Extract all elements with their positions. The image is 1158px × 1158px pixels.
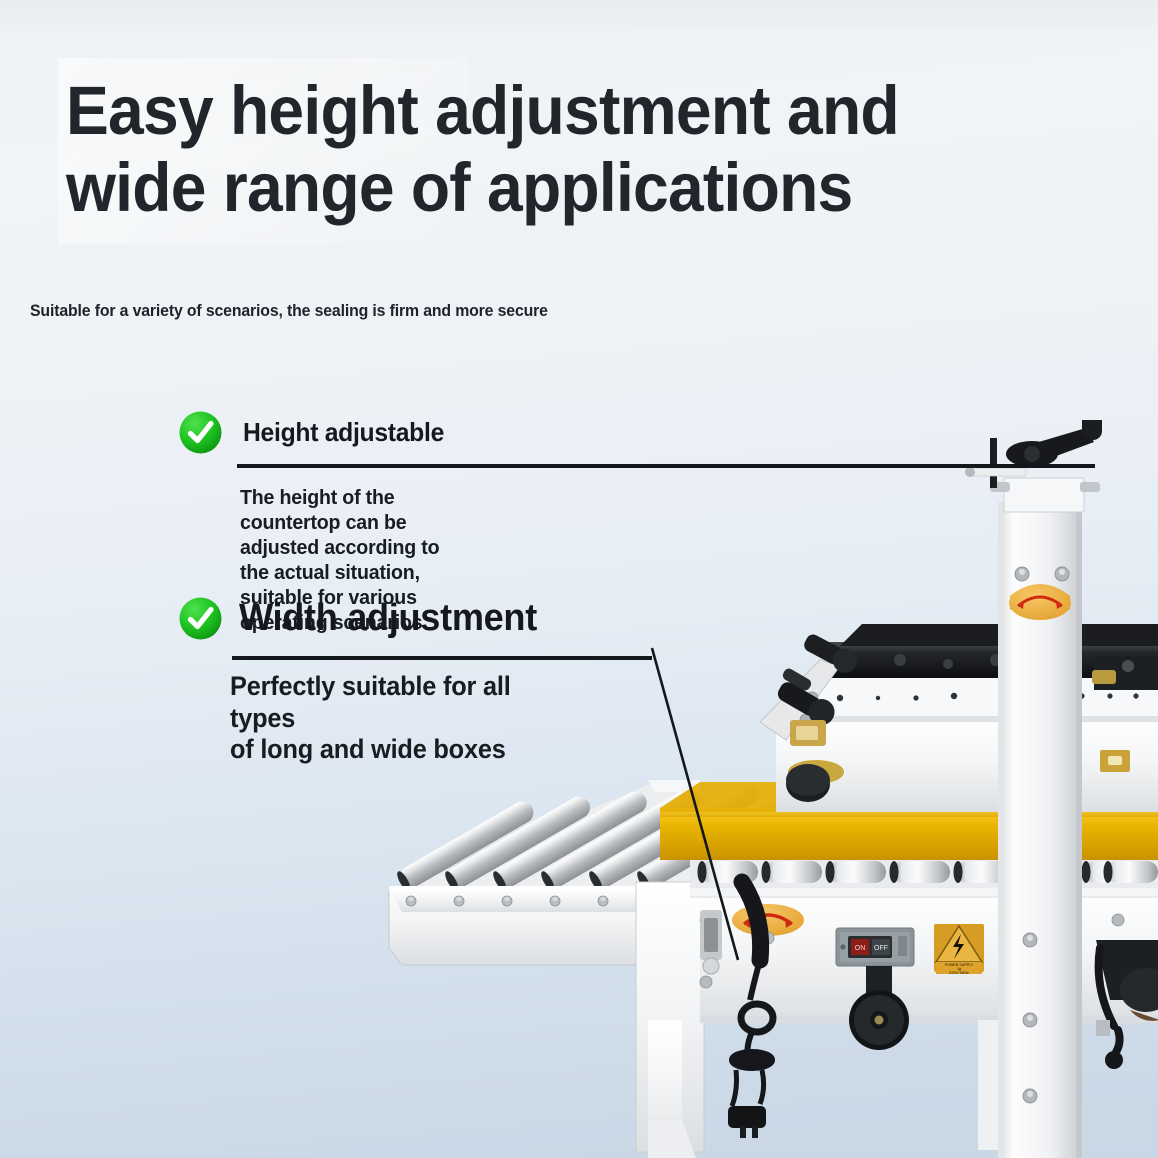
rear-rollers-right (1104, 861, 1158, 883)
hand-crank (1006, 420, 1102, 467)
feature-title: Height adjustable (243, 417, 444, 448)
control-panel: ON OFF (836, 928, 914, 966)
top-light-band (0, 0, 1158, 30)
green-check-icon (178, 410, 223, 455)
banner-stage: ON OFF POWER SUPPLY 1ϕ 220V 50Hz (0, 0, 1158, 1158)
feature-divider (237, 464, 1095, 468)
power-warning-label: POWER SUPPLY 1ϕ 220V 50Hz (934, 924, 984, 975)
switch-off-label: OFF (874, 945, 888, 952)
feature-width-adjustment: Width adjustment Perfectly suitable for … (178, 596, 553, 641)
right-motor-assembly (1096, 940, 1158, 1069)
carton-sealing-machine: ON OFF POWER SUPPLY 1ϕ 220V 50Hz (0, 420, 1158, 1158)
feature-description: Perfectly suitable for all types of long… (230, 671, 538, 766)
feature-height-adjustable: Height adjustable The height of the coun… (178, 410, 455, 455)
green-check-icon (178, 596, 223, 641)
feature-header: Height adjustable (178, 410, 455, 455)
page-title: Easy height adjustment and wide range of… (66, 72, 1033, 226)
feature-title: Width adjustment (239, 597, 537, 640)
rear-tape-head (1092, 656, 1158, 690)
warning-line3: 220V 50Hz (949, 970, 969, 975)
feature-header: Width adjustment (178, 596, 553, 641)
page-subtitle: Suitable for a variety of scenarios, the… (30, 302, 548, 321)
cord-bracket (700, 910, 722, 974)
switch-on-label: ON (855, 945, 866, 952)
power-plug (728, 1106, 766, 1138)
feature-divider (232, 656, 652, 660)
